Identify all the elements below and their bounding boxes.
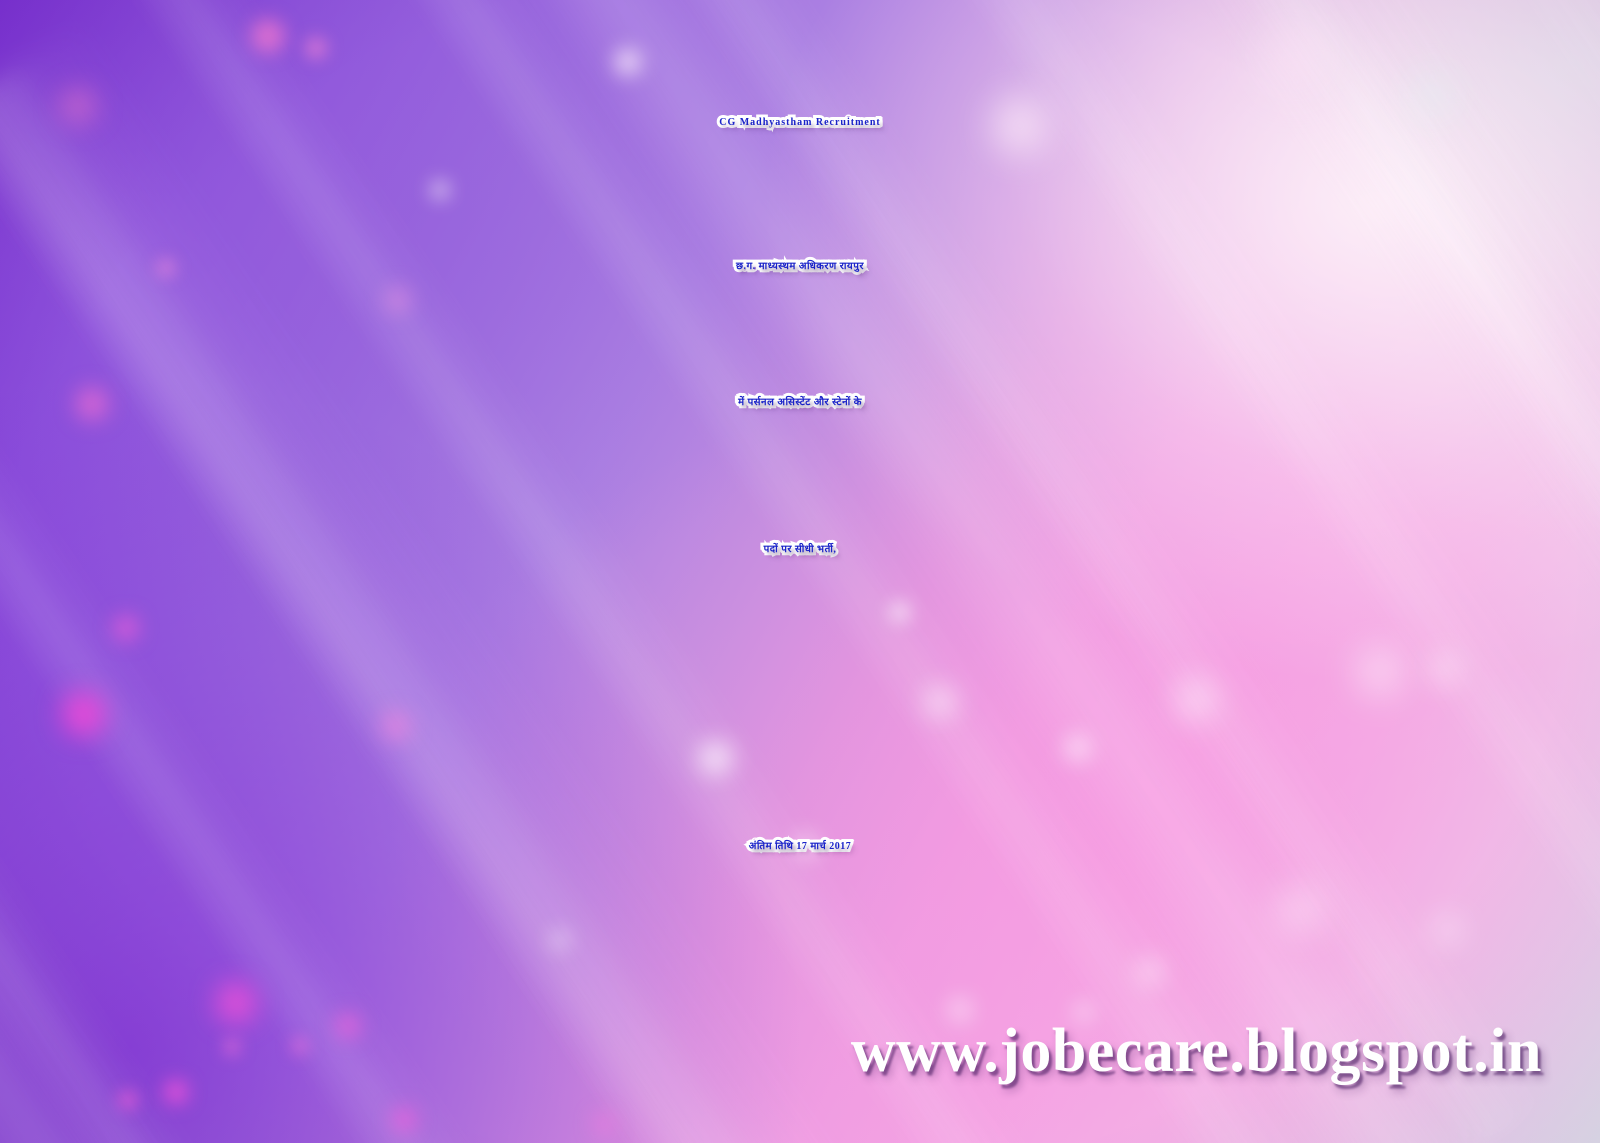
poster-deadline-line: अंतिम तिथि 17 मार्च 2017 bbox=[0, 842, 1600, 852]
poster-text-block: CG Madhyastham Recruitment छ.ग. माध्यस्थ… bbox=[0, 0, 1600, 1143]
poster-hindi-line-3: पदों पर सीधी भर्ती, bbox=[0, 545, 1600, 555]
website-url: www.jobecare.blogspot.in bbox=[851, 1016, 1542, 1087]
poster-canvas: CG Madhyastham Recruitment छ.ग. माध्यस्थ… bbox=[0, 0, 1600, 1143]
poster-hindi-line-1: छ.ग. माध्यस्थम अधिकरण रायपुर bbox=[0, 262, 1600, 272]
poster-title-english: CG Madhyastham Recruitment bbox=[0, 118, 1600, 128]
poster-hindi-line-2: में पर्सनल असिस्टेंट और स्टेनों के bbox=[0, 398, 1600, 408]
